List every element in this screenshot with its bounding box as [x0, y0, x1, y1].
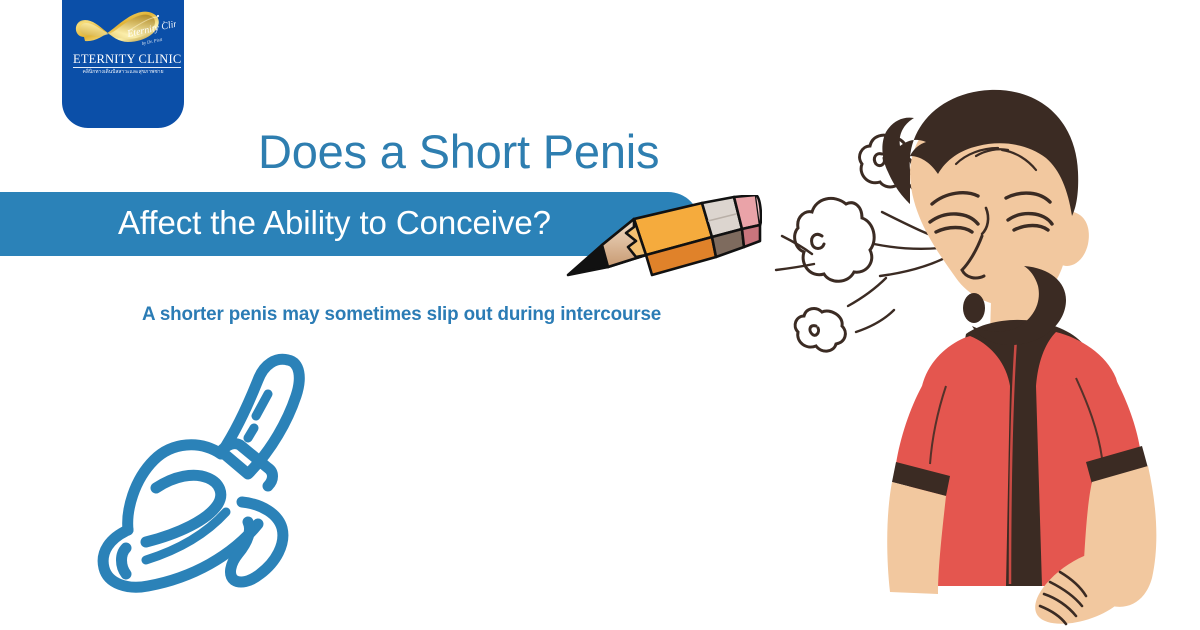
headline-line-2: Affect the Ability to Conceive?: [118, 206, 551, 239]
infinity-ribbon-icon: Eternity Clinic by Dr. Pisit: [70, 4, 176, 54]
distressed-man-illustration: [770, 86, 1190, 630]
pencil-icon: [562, 195, 762, 287]
clinic-logo: Eternity Clinic by Dr. Pisit ETERNITY CL…: [62, 0, 184, 128]
logo-name: ETERNITY CLINIC: [73, 50, 173, 68]
banana-condom-icon: [82, 342, 332, 600]
logo-inner: Eternity Clinic by Dr. Pisit ETERNITY CL…: [62, 0, 184, 128]
left-arm: [887, 482, 946, 594]
poster-canvas: Eternity Clinic by Dr. Pisit ETERNITY CL…: [0, 0, 1200, 630]
subheadline: A shorter penis may sometimes slip out d…: [142, 303, 661, 326]
open-mouth: [963, 293, 985, 323]
headline-line-1: Does a Short Penis: [258, 128, 659, 175]
logo-thai-subtitle: คลินิกทางเดินปัสสาวะและสุขภาพชาย: [64, 68, 181, 76]
